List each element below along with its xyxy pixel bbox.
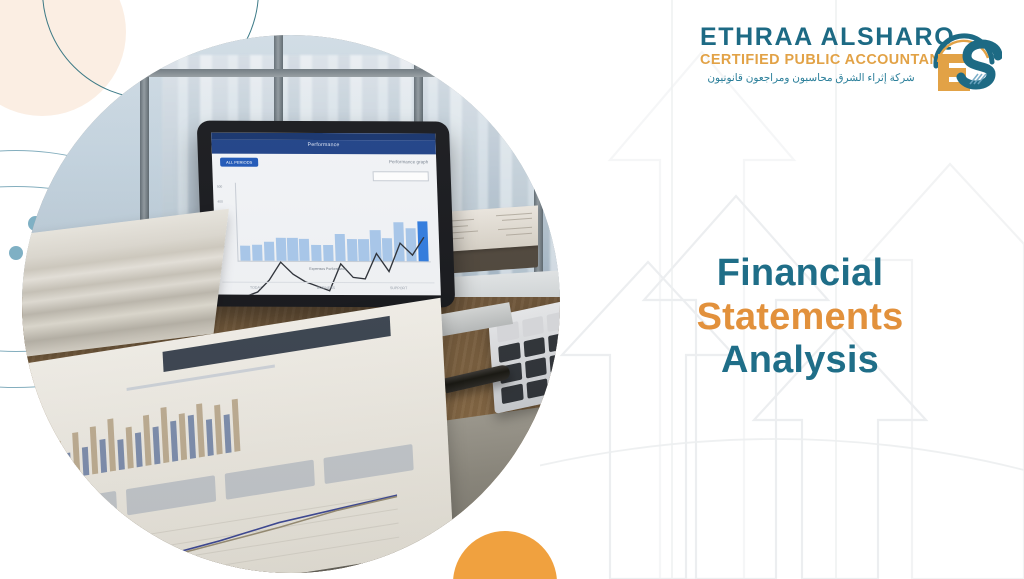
logo-company-name: ETHRAA ALSHARQ bbox=[700, 24, 922, 50]
title-line-2: Statements bbox=[612, 296, 988, 340]
hero-photo: Performance ALL PERIODS Performance grap… bbox=[22, 35, 560, 573]
banner: Performance ALL PERIODS Performance grap… bbox=[0, 0, 1024, 579]
title-line-1: Financial bbox=[612, 252, 988, 296]
guide-arc bbox=[540, 439, 1024, 470]
accent-dot-3 bbox=[9, 246, 23, 260]
page-title: Financial Statements Analysis bbox=[612, 252, 988, 383]
logo-wordmark: ETHRAA ALSHARQ CERTIFIED PUBLIC ACCOUNTA… bbox=[700, 24, 922, 84]
title-line-3: Analysis bbox=[612, 339, 988, 383]
logo-arabic-tagline: شركة إثراء الشرق محاسبون ومراجعون قانوني… bbox=[700, 72, 922, 84]
logo-mark-icon bbox=[926, 22, 1002, 99]
company-logo: ETHRAA ALSHARQ CERTIFIED PUBLIC ACCOUNTA… bbox=[700, 24, 1005, 100]
logo-tagline: CERTIFIED PUBLIC ACCOUNTANT bbox=[700, 51, 922, 69]
